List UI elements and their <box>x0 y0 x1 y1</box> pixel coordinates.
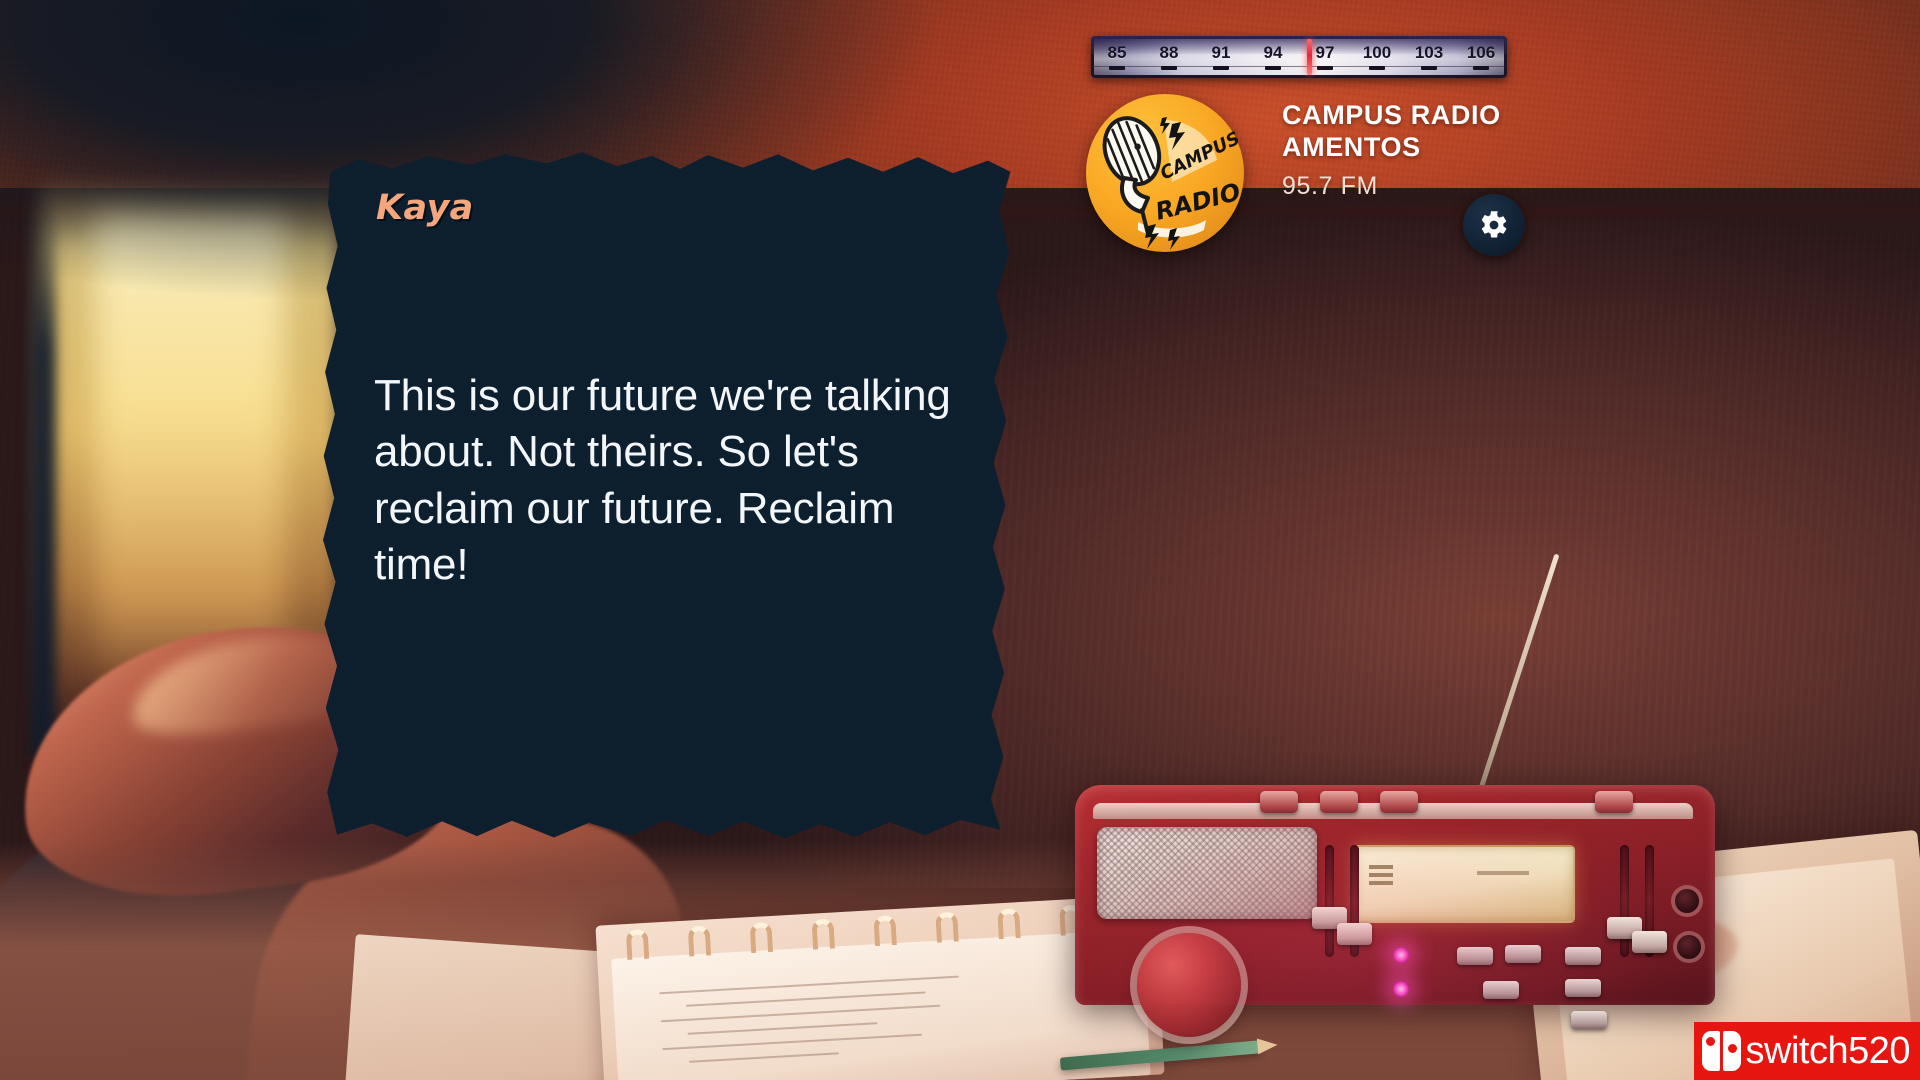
dial-tick <box>1369 66 1385 70</box>
radio-indicator-led <box>1393 947 1409 963</box>
svg-text:RADIO: RADIO <box>1153 178 1244 226</box>
radio-speaker-grill <box>1097 827 1317 919</box>
radio-top-button <box>1595 791 1633 813</box>
dial-tick <box>1265 66 1281 70</box>
radio-indicator-led <box>1393 981 1409 997</box>
spiral-ring <box>997 908 1021 939</box>
campus-radio-logo: CAMPUS RADIO <box>1086 94 1244 252</box>
radio-slider <box>1620 845 1629 957</box>
dial-tuning-marker[interactable] <box>1307 39 1312 75</box>
radio-control-pad <box>1571 1011 1607 1029</box>
radio-display <box>1353 845 1575 923</box>
dial-tick <box>1421 66 1437 70</box>
scribble-line <box>661 1005 941 1023</box>
radio-body <box>1075 785 1715 1005</box>
radio-top-trim <box>1093 803 1693 819</box>
dial-tick <box>1473 66 1489 70</box>
dial-tick-label: 88 <box>1160 43 1179 63</box>
radio-control-pad <box>1505 945 1541 963</box>
dial-tick <box>1213 66 1229 70</box>
radio-jack <box>1675 889 1699 913</box>
radio-control-pad <box>1565 947 1601 965</box>
dial-tick-label: 97 <box>1316 43 1335 63</box>
station-name-line2: AMENTOS <box>1282 132 1612 164</box>
radio-top-button <box>1320 791 1358 813</box>
radio-slider <box>1325 845 1334 957</box>
dialogue-text: This is our future we're talking about. … <box>374 368 974 593</box>
spiral-ring <box>750 922 774 953</box>
radio-control-pad <box>1565 979 1601 997</box>
scribble-line <box>689 1052 839 1062</box>
radio-slider <box>1350 845 1359 957</box>
station-name-line1: CAMPUS RADIO <box>1282 100 1612 132</box>
watermark-text: switch520 <box>1746 1030 1910 1073</box>
settings-button[interactable] <box>1463 194 1525 256</box>
dial-tick-label: 91 <box>1212 43 1231 63</box>
dial-tick <box>1109 66 1125 70</box>
watermark: switch520 <box>1694 1022 1920 1080</box>
dial-tick-label: 103 <box>1415 43 1443 63</box>
scribble-line <box>662 1034 922 1051</box>
vintage-radio <box>1075 755 1715 1005</box>
radio-control-pad <box>1483 981 1519 999</box>
dial-tick-marks <box>1091 64 1507 70</box>
radio-top-button <box>1380 791 1418 813</box>
station-info: CAMPUS RADIO AMENTOS 95.7 FM <box>1282 100 1612 201</box>
dial-tick-label: 106 <box>1467 43 1495 63</box>
dial-number-labels: 8588919497100103106 <box>1091 43 1507 65</box>
radio-jack <box>1677 935 1701 959</box>
radio-control-pad <box>1457 947 1493 965</box>
dial-tick-label: 94 <box>1264 43 1283 63</box>
radio-top-button <box>1260 791 1298 813</box>
dial-tick <box>1161 66 1177 70</box>
scribble-line <box>686 991 926 1006</box>
station-frequency: 95.7 FM <box>1282 172 1612 201</box>
nintendo-switch-icon <box>1702 1031 1742 1071</box>
game-screen: Kaya This is our future we're talking ab… <box>0 0 1920 1080</box>
gear-icon <box>1479 210 1509 240</box>
dial-tick-label: 100 <box>1363 43 1391 63</box>
microphone-icon: CAMPUS RADIO <box>1086 94 1244 252</box>
speaker-name: Kaya <box>376 188 474 228</box>
frequency-dial[interactable]: 8588919497100103106 <box>1091 36 1507 78</box>
dial-tick-label: 85 <box>1108 43 1127 63</box>
spiral-ring <box>811 918 835 949</box>
radio-volume-knob <box>1137 933 1241 1037</box>
dialogue-panel[interactable]: Kaya This is our future we're talking ab… <box>316 148 1016 848</box>
dial-tick <box>1317 66 1333 70</box>
spiral-ring <box>873 915 897 946</box>
spiral-ring <box>688 925 712 956</box>
spiral-ring <box>626 929 650 960</box>
radio-slider <box>1645 845 1654 957</box>
scribble-line <box>688 1022 878 1035</box>
radio-hud: 8588919497100103106 <box>1086 36 1646 266</box>
spiral-ring <box>935 912 959 943</box>
